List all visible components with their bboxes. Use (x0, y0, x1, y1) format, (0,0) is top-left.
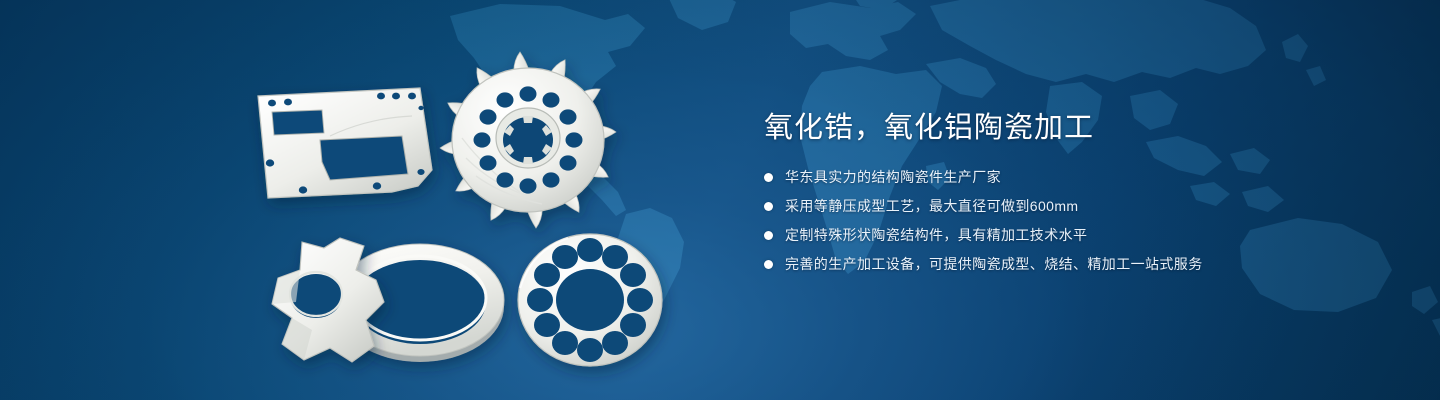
bullet-dot-icon (764, 260, 773, 269)
list-item: 完善的生产加工设备，可提供陶瓷成型、烧结、精加工一站式服务 (764, 255, 1384, 273)
banner-copy: 氧化锆，氧化铝陶瓷加工 华东具实力的结构陶瓷件生产厂家 采用等静压成型工艺，最大… (764, 108, 1384, 284)
feature-text: 完善的生产加工设备，可提供陶瓷成型、烧结、精加工一站式服务 (785, 255, 1203, 273)
feature-list: 华东具实力的结构陶瓷件生产厂家 采用等静压成型工艺，最大直径可做到600mm 定… (764, 168, 1384, 273)
ceramic-perforated-disc-shape (518, 234, 662, 366)
feature-text: 定制特殊形状陶瓷结构件，具有精加工技术水平 (785, 226, 1087, 244)
list-item: 定制特殊形状陶瓷结构件，具有精加工技术水平 (764, 226, 1384, 244)
bullet-dot-icon (764, 202, 773, 211)
ceramic-plate-shape (258, 88, 432, 198)
list-item: 华东具实力的结构陶瓷件生产厂家 (764, 168, 1384, 186)
feature-text: 采用等静压成型工艺，最大直径可做到600mm (785, 197, 1078, 215)
list-item: 采用等静压成型工艺，最大直径可做到600mm (764, 197, 1384, 215)
bullet-dot-icon (764, 173, 773, 182)
ceramic-products-image (0, 0, 760, 400)
feature-text: 华东具实力的结构陶瓷件生产厂家 (785, 168, 1001, 186)
ceramic-impeller-shape (440, 52, 616, 228)
page-title: 氧化锆，氧化铝陶瓷加工 (764, 108, 1384, 148)
bullet-dot-icon (764, 231, 773, 240)
product-hero-banner: 氧化锆，氧化铝陶瓷加工 华东具实力的结构陶瓷件生产厂家 采用等静压成型工艺，最大… (0, 0, 1440, 400)
